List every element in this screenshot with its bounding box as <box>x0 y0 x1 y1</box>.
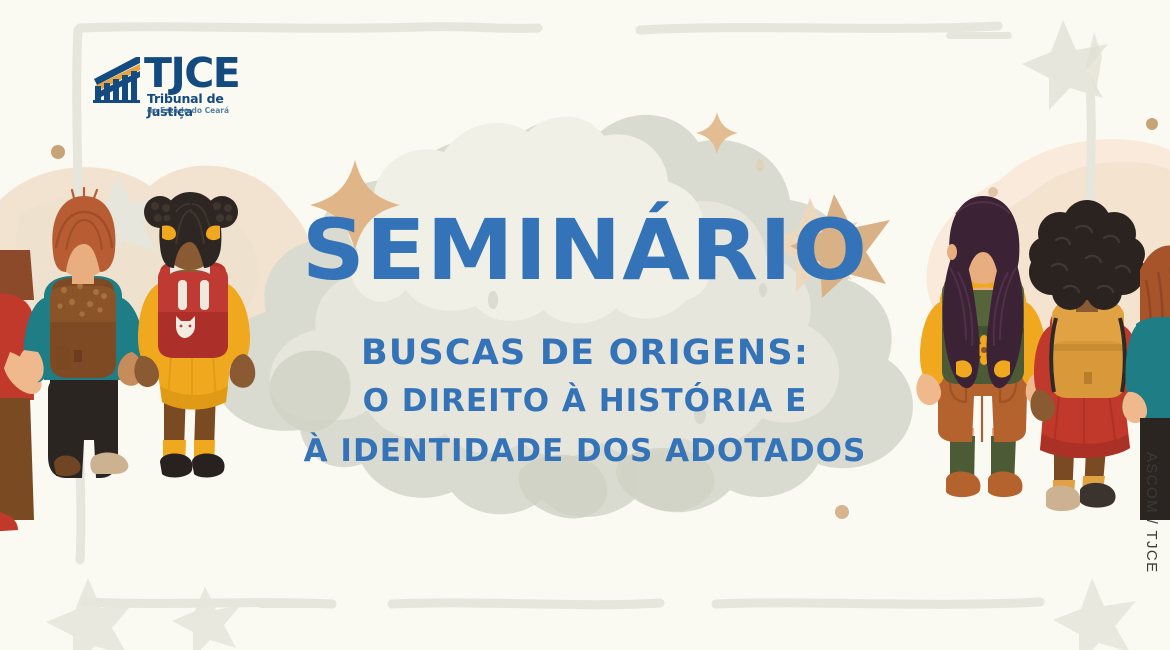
logo-subtitle-line2: do Estado do Ceará <box>147 107 229 115</box>
logo-acronym: TJCE <box>144 53 239 94</box>
credit-text: ASCOM / TJCE <box>1143 452 1160 574</box>
poster-canvas: TJCE Tribunal de Justiça do Estado do Ce… <box>0 0 1170 650</box>
afro-hair <box>1029 200 1145 310</box>
tjce-logo: TJCE Tribunal de Justiça do Estado do Ce… <box>92 55 267 117</box>
credit-label: ASCOM / TJCE <box>1140 452 1164 602</box>
child-girl-braids-green-backpack <box>916 196 1051 497</box>
tjce-courthouse-icon <box>92 55 142 103</box>
